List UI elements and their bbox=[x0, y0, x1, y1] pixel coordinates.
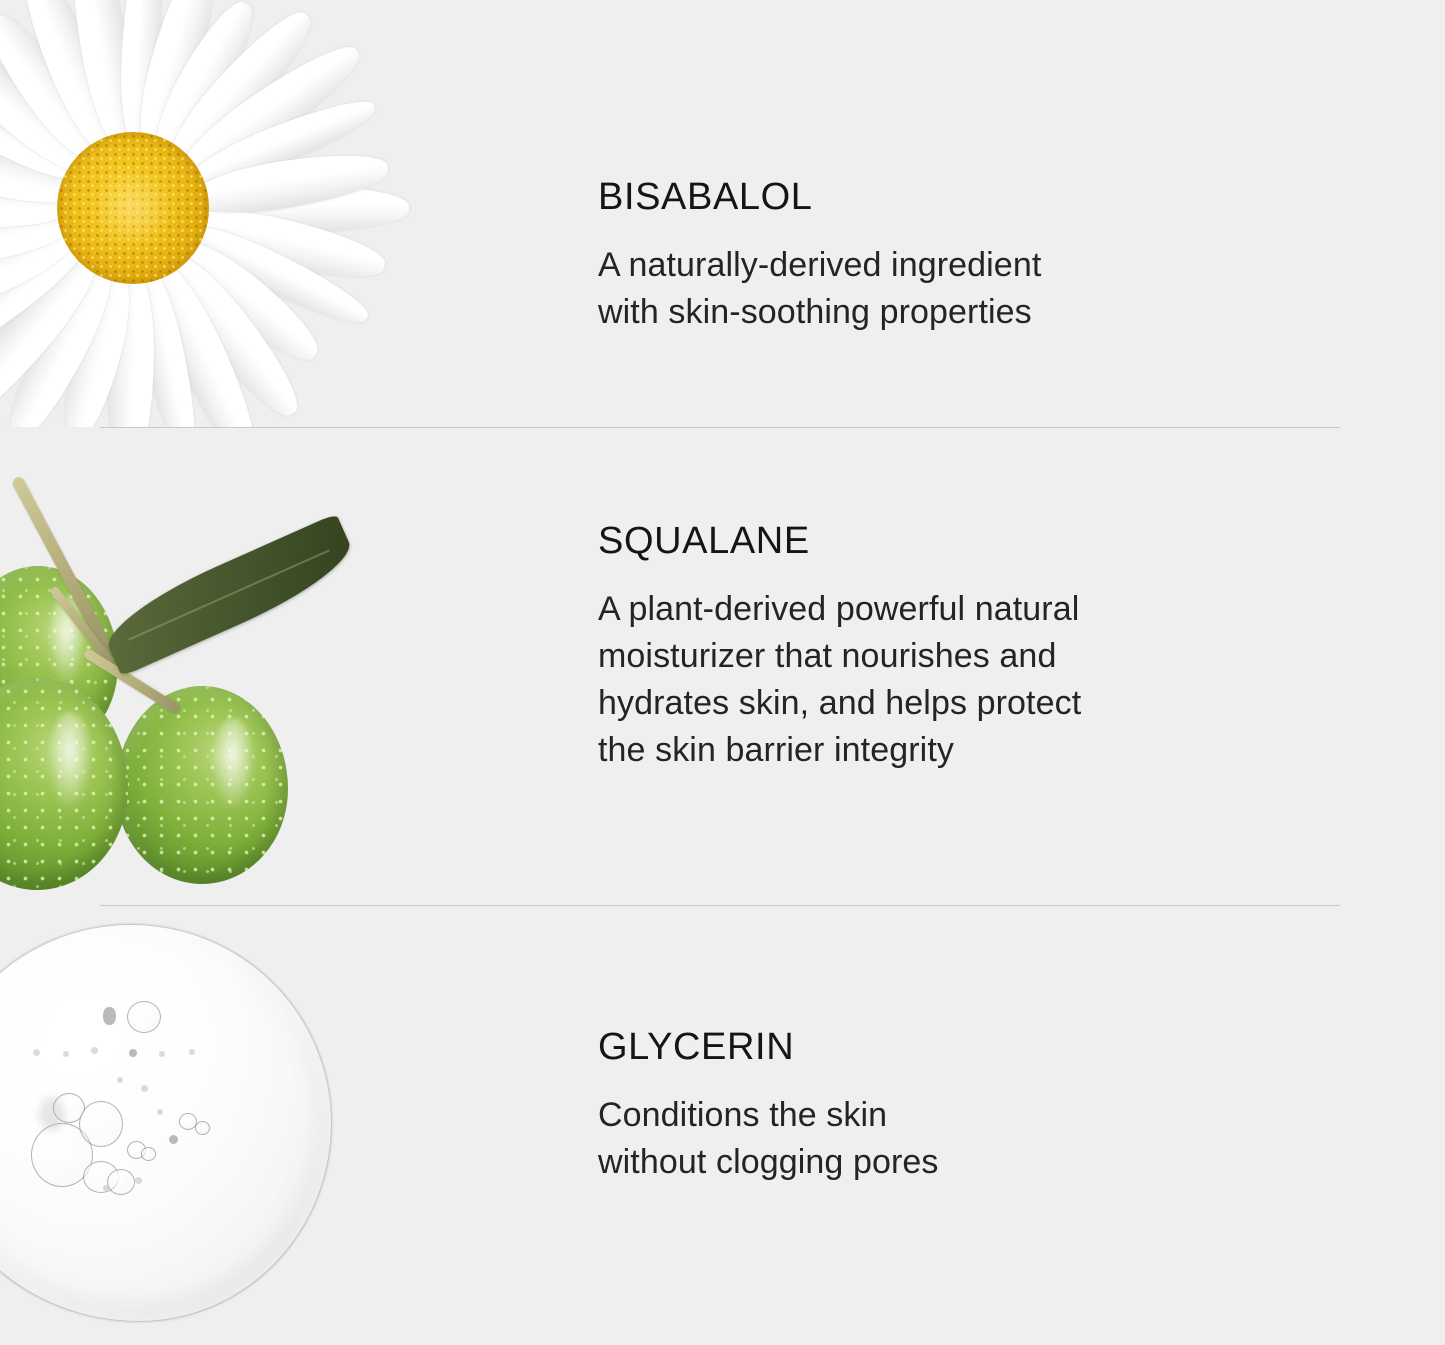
desc-line: without clogging pores bbox=[598, 1143, 939, 1181]
desc-line: A plant-derived powerful natural bbox=[598, 590, 1079, 628]
ingredient-description-squalane: A plant-derived powerful naturalmoisturi… bbox=[598, 586, 1081, 774]
gel-bubble bbox=[127, 1001, 161, 1033]
gel-dot bbox=[189, 1049, 195, 1055]
desc-line: A naturally-derived ingredient bbox=[598, 246, 1041, 284]
gel-dot bbox=[159, 1051, 165, 1057]
ingredient-text-squalane: SQUALANE A plant-derived powerful natura… bbox=[598, 522, 1081, 774]
desc-line: with skin-soothing properties bbox=[598, 293, 1032, 331]
gel-droplet-illustration bbox=[0, 924, 332, 1322]
clear-gel-droplet-image bbox=[0, 906, 440, 1345]
ingredient-text-bisabalol: BISABALOL A naturally-derived ingredient… bbox=[598, 178, 1041, 336]
ingredient-row-squalane: SQUALANE A plant-derived powerful natura… bbox=[0, 428, 1445, 905]
gel-dot bbox=[129, 1049, 137, 1057]
olive-illustration bbox=[0, 438, 430, 898]
chamomile-daisy-flower-image bbox=[0, 0, 440, 427]
gel-bubble bbox=[195, 1121, 210, 1135]
gel-dot bbox=[169, 1135, 178, 1144]
ingredient-row-glycerin: GLYCERIN Conditions the skinwithout clog… bbox=[0, 906, 1445, 1345]
gel-dot bbox=[91, 1047, 98, 1054]
ingredient-title-glycerin: GLYCERIN bbox=[598, 1028, 939, 1066]
daisy-center-disc bbox=[57, 132, 209, 284]
gel-bubble bbox=[79, 1101, 123, 1147]
green-olives-branch-image bbox=[0, 428, 440, 905]
ingredient-title-squalane: SQUALANE bbox=[598, 522, 1081, 560]
gel-dot bbox=[39, 1097, 65, 1131]
gel-dot bbox=[135, 1177, 142, 1184]
olive-fruit-right bbox=[116, 686, 288, 884]
gel-bubble bbox=[107, 1169, 135, 1195]
ingredient-description-glycerin: Conditions the skinwithout clogging pore… bbox=[598, 1092, 939, 1186]
ingredient-description-bisabalol: A naturally-derived ingredientwith skin-… bbox=[598, 242, 1041, 336]
desc-line: moisturizer that nourishes and bbox=[598, 637, 1056, 675]
ingredient-title-bisabalol: BISABALOL bbox=[598, 178, 1041, 216]
gel-dot bbox=[103, 1185, 109, 1191]
daisy-illustration bbox=[0, 8, 428, 408]
gel-dot bbox=[117, 1077, 123, 1083]
olive-leaf-main bbox=[97, 513, 362, 676]
ingredient-text-glycerin: GLYCERIN Conditions the skinwithout clog… bbox=[598, 1028, 939, 1186]
gel-dot bbox=[33, 1049, 40, 1056]
gel-dot bbox=[63, 1051, 69, 1057]
gel-dot bbox=[157, 1109, 163, 1115]
desc-line: the skin barrier integrity bbox=[598, 731, 954, 769]
olive-fruit-left bbox=[0, 678, 128, 890]
desc-line: Conditions the skin bbox=[598, 1096, 887, 1134]
desc-line: hydrates skin, and helps protect bbox=[598, 684, 1081, 722]
ingredients-infographic: BISABALOL A naturally-derived ingredient… bbox=[0, 0, 1445, 1345]
ingredient-row-bisabalol: BISABALOL A naturally-derived ingredient… bbox=[0, 0, 1445, 427]
gel-dot bbox=[103, 1007, 116, 1025]
gel-dot bbox=[141, 1085, 148, 1092]
gel-bubble bbox=[141, 1147, 156, 1161]
